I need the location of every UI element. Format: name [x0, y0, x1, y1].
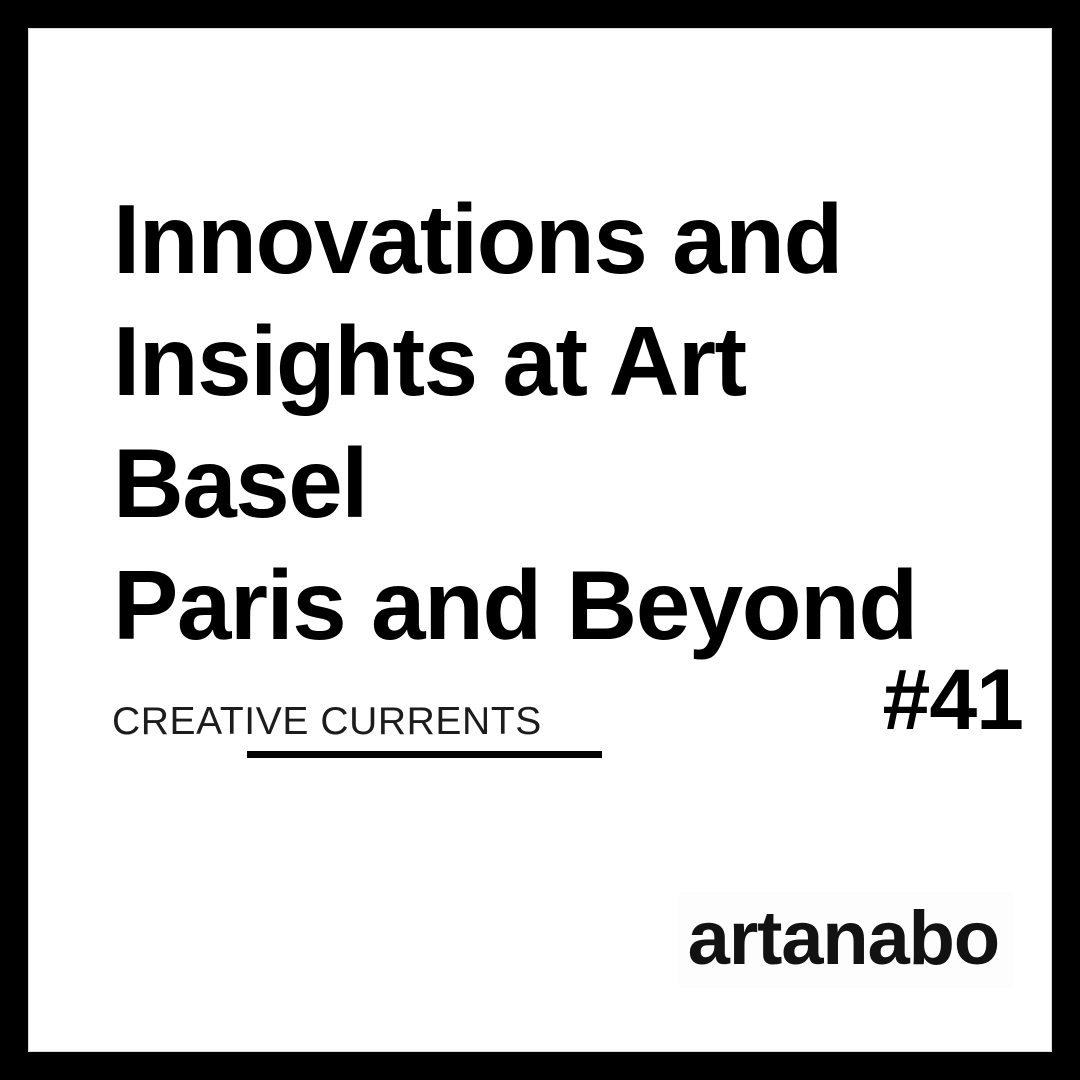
- series-label: CREATIVE CURRENTS: [112, 702, 672, 742]
- series-block: CREATIVE CURRENTS: [112, 702, 672, 742]
- poster-card: Innovations and Insights at Art Basel Pa…: [28, 28, 1052, 1052]
- artanabo-logo: artanabo: [678, 892, 1013, 988]
- meta-row: CREATIVE CURRENTS #41: [28, 640, 1052, 780]
- page-title: Innovations and Insights at Art Basel Pa…: [113, 178, 993, 666]
- poster-frame: Innovations and Insights at Art Basel Pa…: [0, 0, 1080, 1080]
- issue-number-badge: #41: [883, 652, 1024, 748]
- series-underline-rule: [247, 751, 602, 758]
